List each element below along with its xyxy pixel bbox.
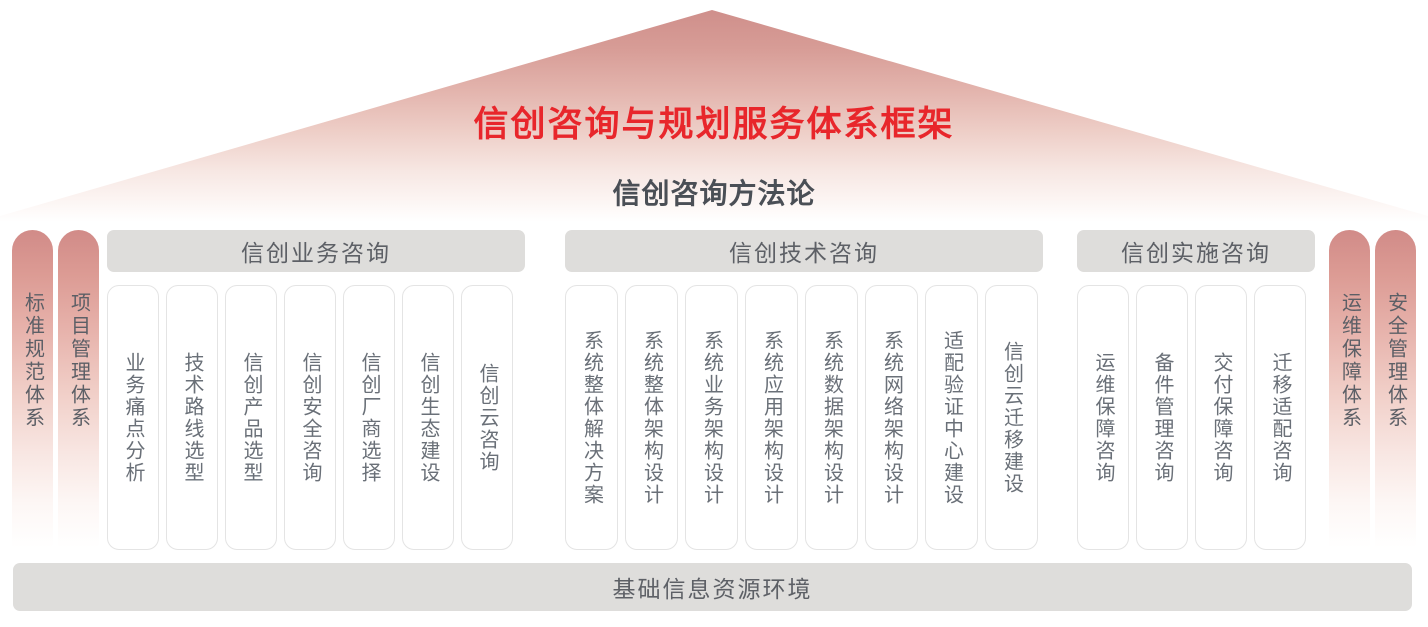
- foundation-label: 基础信息资源环境: [613, 570, 813, 604]
- service-card[interactable]: 系统网络架构设计: [865, 285, 918, 550]
- page-subtitle: 信创咨询方法论: [0, 172, 1428, 212]
- pillar-label: 标准规范体系: [12, 292, 53, 492]
- pillar-standards-system[interactable]: 标准规范体系: [12, 230, 53, 548]
- service-card[interactable]: 信创厂商选择: [343, 285, 395, 550]
- service-card[interactable]: 业务痛点分析: [107, 285, 159, 550]
- service-card-label: 迁移适配咨询: [1270, 352, 1290, 484]
- group-card-list: 业务痛点分析 技术路线选型 信创产品选型 信创安全咨询 信创厂商选择 信创生态建…: [107, 285, 513, 550]
- service-card-label: 系统应用架构设计: [762, 330, 782, 506]
- service-card-label: 信创厂商选择: [359, 352, 379, 484]
- group-implementation-consulting: 信创实施咨询 运维保障咨询 备件管理咨询 交付保障咨询 迁移适配咨询: [1077, 230, 1315, 272]
- foundation-bar[interactable]: 基础信息资源环境: [13, 563, 1412, 611]
- pillar-label: 运维保障体系: [1329, 292, 1370, 492]
- service-card[interactable]: 系统整体解决方案: [565, 285, 618, 550]
- pillar-security-management-system[interactable]: 安全管理体系: [1375, 230, 1416, 548]
- pillar-project-management-system[interactable]: 项目管理体系: [58, 230, 99, 548]
- service-card-label: 技术路线选型: [182, 352, 202, 484]
- group-card-list: 运维保障咨询 备件管理咨询 交付保障咨询 迁移适配咨询: [1077, 285, 1306, 550]
- service-card[interactable]: 信创产品选型: [225, 285, 277, 550]
- service-card[interactable]: 运维保障咨询: [1077, 285, 1129, 550]
- service-card[interactable]: 信创安全咨询: [284, 285, 336, 550]
- service-card[interactable]: 交付保障咨询: [1195, 285, 1247, 550]
- service-card-label: 系统整体解决方案: [582, 330, 602, 506]
- group-header[interactable]: 信创技术咨询: [565, 230, 1043, 272]
- group-card-list: 系统整体解决方案 系统整体架构设计 系统业务架构设计 系统应用架构设计 系统数据…: [565, 285, 1038, 550]
- architecture-diagram: 信创咨询与规划服务体系框架 信创咨询方法论 标准规范体系 项目管理体系 运维保障…: [0, 0, 1428, 627]
- service-card-label: 系统整体架构设计: [642, 330, 662, 506]
- service-card[interactable]: 系统整体架构设计: [625, 285, 678, 550]
- service-card-label: 系统业务架构设计: [702, 330, 722, 506]
- service-card[interactable]: 备件管理咨询: [1136, 285, 1188, 550]
- service-card[interactable]: 系统应用架构设计: [745, 285, 798, 550]
- service-card[interactable]: 系统业务架构设计: [685, 285, 738, 550]
- pillar-label: 项目管理体系: [58, 292, 99, 492]
- service-card[interactable]: 迁移适配咨询: [1254, 285, 1306, 550]
- service-card-label: 交付保障咨询: [1211, 352, 1231, 484]
- service-card-label: 信创云迁移建设: [1002, 341, 1022, 495]
- service-card[interactable]: 适配验证中心建设: [925, 285, 978, 550]
- service-card-label: 业务痛点分析: [123, 352, 143, 484]
- group-header[interactable]: 信创业务咨询: [107, 230, 525, 272]
- service-card[interactable]: 技术路线选型: [166, 285, 218, 550]
- service-card-label: 信创云咨询: [477, 363, 497, 473]
- service-card-label: 适配验证中心建设: [942, 330, 962, 506]
- service-card-label: 信创产品选型: [241, 352, 261, 484]
- group-header[interactable]: 信创实施咨询: [1077, 230, 1315, 272]
- service-card[interactable]: 信创生态建设: [402, 285, 454, 550]
- group-business-consulting: 信创业务咨询 业务痛点分析 技术路线选型 信创产品选型 信创安全咨询 信创厂商选…: [107, 230, 525, 272]
- service-card[interactable]: 信创云咨询: [461, 285, 513, 550]
- service-card-label: 运维保障咨询: [1093, 352, 1113, 484]
- group-technical-consulting: 信创技术咨询 系统整体解决方案 系统整体架构设计 系统业务架构设计 系统应用架构…: [565, 230, 1043, 272]
- pillar-ops-assurance-system[interactable]: 运维保障体系: [1329, 230, 1370, 548]
- service-card-label: 信创安全咨询: [300, 352, 320, 484]
- service-card[interactable]: 系统数据架构设计: [805, 285, 858, 550]
- service-card-label: 备件管理咨询: [1152, 352, 1172, 484]
- service-card-label: 信创生态建设: [418, 352, 438, 484]
- page-title: 信创咨询与规划服务体系框架: [0, 96, 1428, 147]
- pillar-label: 安全管理体系: [1375, 292, 1416, 492]
- service-card[interactable]: 信创云迁移建设: [985, 285, 1038, 550]
- service-card-label: 系统网络架构设计: [882, 330, 902, 506]
- service-card-label: 系统数据架构设计: [822, 330, 842, 506]
